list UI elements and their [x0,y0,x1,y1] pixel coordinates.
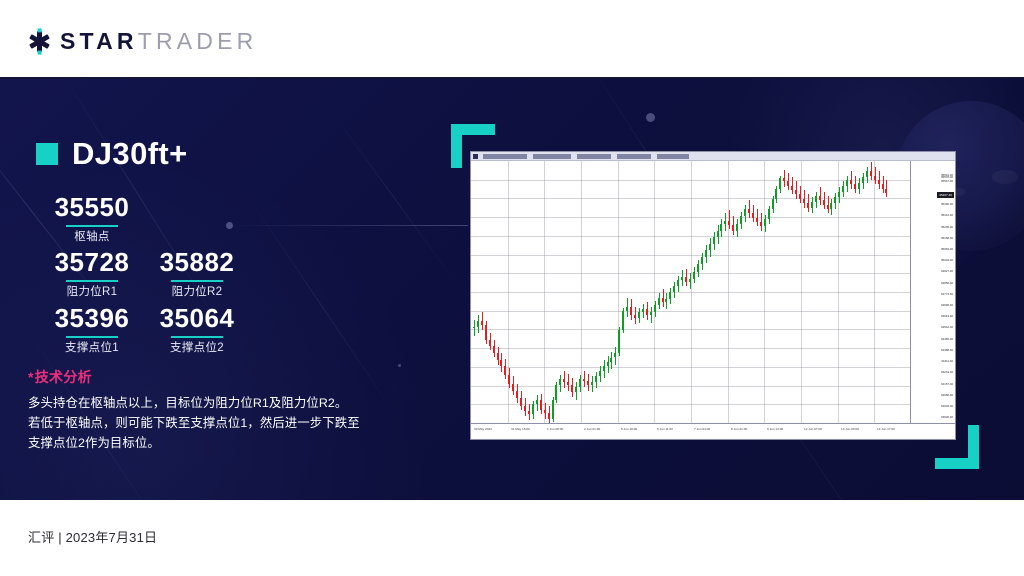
candle-body [493,346,495,353]
candlestick [783,161,785,423]
time-tick-label: 14 Jun 17:00 [877,428,895,431]
candlestick [874,161,876,423]
candle-body [717,231,719,237]
current-price-tag: 35467.40 [937,192,954,198]
candle-body [874,176,876,180]
candlestick [493,161,495,423]
price-tick-label: 35158.40 [941,237,953,240]
candlestick [512,161,514,423]
candlestick [528,161,530,423]
brand-logo: STARTRADER [26,28,257,54]
candlestick [583,161,585,423]
candle-body [748,209,750,213]
candlestick [504,161,506,423]
candle-body [662,298,664,302]
candle-body [599,371,601,377]
candlestick [563,161,565,423]
time-tick-label: 9 Jun 14:00 [767,428,783,431]
candlestick [858,161,860,423]
candle-body [610,358,612,362]
candlestick [626,161,628,423]
chart-ohlc-chip [657,154,689,159]
candle-body [791,186,793,190]
candlestick [638,161,640,423]
stat-divider [66,336,118,338]
time-axis[interactable]: 30 May 202331 May 15:001 Jun 08:002 Jun … [471,423,955,440]
price-tick-label: 35390.40 [941,203,953,206]
chart-ohlc-chip [577,154,611,159]
candle-body [591,382,593,385]
price-tick-label: 34234.40 [941,371,953,374]
candlestick [799,161,801,423]
analysis-heading: *技术分析 [28,367,408,387]
candlestick [665,161,667,423]
time-tick-label: 5 Jun 18:00 [621,428,637,431]
candle-body [532,404,534,414]
candlestick [595,161,597,423]
price-tick-label: 35312.40 [941,214,953,217]
time-tick-label: 13 Jun 00:00 [841,428,859,431]
candle-body [842,186,844,192]
candle-body [728,221,730,225]
candlestick [752,161,754,423]
candlestick [599,161,601,423]
candlestick [575,161,577,423]
candle-body [650,312,652,315]
page-title: DJ30ft+ [72,138,188,169]
stat-support2: 35064 支撑点位2 [127,305,267,355]
candle-body [489,340,491,346]
page-header: STARTRADER [0,0,1024,78]
candle-body [665,299,667,302]
analysis-asterisk: * [28,369,34,385]
candlestick [815,161,817,423]
candle-body [866,171,868,177]
candlestick [713,161,715,423]
candle-body [508,375,510,384]
candlestick [658,161,660,423]
candle-body [854,184,856,188]
candlestick [854,161,856,423]
candlestick [508,161,510,423]
infographic-page: STARTRADER DJ30ft+ 35550 枢轴点 [0,0,1024,576]
stat-support2-label: 支撑点位2 [127,342,267,355]
candlestick [787,161,789,423]
candle-body [752,213,754,217]
candle-body [520,398,522,405]
candlestick [642,161,644,423]
price-tick-label: 35547.40 [941,180,953,183]
candle-body [540,400,542,410]
candle-body [787,181,789,185]
candle-body [603,366,605,370]
candlestick [834,161,836,423]
candle-body [524,406,526,412]
candle-body [595,376,597,382]
time-tick-label: 2 Jun 01:00 [584,428,600,431]
candle-body [579,379,581,386]
price-tick-label: 35004.40 [941,259,953,262]
candlestick [540,161,542,423]
candlestick [587,161,589,423]
price-tick-label: 35235.40 [941,226,953,229]
instrument-title-row: DJ30ft+ [36,138,188,169]
candle-body [504,366,506,375]
candle-body [685,277,687,281]
candlestick [870,161,872,423]
stat-pivot-value: 35550 [22,194,162,221]
price-tick-label: 34619.40 [941,315,953,318]
candlestick [717,161,719,423]
candle-body [536,400,538,404]
candle-body [760,222,762,226]
candlestick [571,161,573,423]
candle-body [697,264,699,271]
analysis-text: 多头持仓在枢轴点以上，目标位为阻力位R1及阻力位R2。 若低于枢轴点，则可能下跌… [28,393,408,453]
candle-body [827,205,829,209]
candlestick [485,161,487,423]
candle-body [630,307,632,316]
candlestick [705,161,707,423]
price-tick-label: 34388.40 [941,349,953,352]
page-footer: 汇评 | 2023年7月31日 [0,500,1024,576]
candle-body [677,280,679,286]
candle-body [768,209,770,219]
candlestick [772,161,774,423]
candlestick [709,161,711,423]
candlestick [744,161,746,423]
candle-body [783,178,785,181]
candle-body [669,292,671,299]
candlestick [552,161,554,423]
candlestick [548,161,550,423]
candlestick [697,161,699,423]
candle-body [587,381,589,385]
candlestick [500,161,502,423]
candlestick [827,161,829,423]
candle-body [555,385,557,400]
chart-main-area[interactable]: 35591.4035578.4035547.4035467.4035390.40… [471,161,955,423]
stat-pivot: 35550 枢轴点 [22,194,162,244]
stat-resistance2: 35882 阻力位R2 [127,249,267,299]
candle-body [764,219,766,226]
candlestick [842,161,844,423]
candlestick [795,161,797,423]
candlestick [591,161,593,423]
candle-body [481,321,483,325]
candle-body [878,180,880,184]
price-tick-label: 34003.40 [941,405,953,408]
candlestick [497,161,499,423]
candle-body [701,257,703,264]
candle-body [642,309,644,312]
brand-name-star: STAR [60,28,138,54]
stat-support2-value: 35064 [127,305,267,332]
candlestick [775,161,777,423]
candlestick [819,161,821,423]
candle-body [807,203,809,207]
bracket-arm-vertical [451,124,462,168]
title-bullet-square-icon [36,143,58,165]
candlestick [646,161,648,423]
candlestick [681,161,683,423]
time-tick-label: 30 May 2023 [474,428,492,431]
candlestick [614,161,616,423]
candlestick [693,161,695,423]
candle-body [583,379,585,380]
candle-body [705,250,707,257]
chart-titlebar [471,152,955,161]
price-tick-label: 34465.40 [941,338,953,341]
stat-divider [171,336,223,338]
candle-body [654,305,656,312]
candlestick [618,161,620,423]
candlestick [520,161,522,423]
candle-body [559,379,561,385]
candle-body [795,190,797,194]
candle-body [803,199,805,203]
candlestick [579,161,581,423]
candlestick [850,161,852,423]
price-tick-label: 34773.40 [941,293,953,296]
candle-body [638,312,640,318]
candle-body [858,183,860,189]
candlestick [728,161,730,423]
candlestick [846,161,848,423]
candle-body [567,382,569,385]
candlestick [830,161,832,423]
candle-body [799,194,801,198]
price-axis[interactable]: 35591.4035578.4035547.4035467.4035390.40… [910,161,955,423]
candlestick [740,161,742,423]
candle-body [724,221,726,224]
candle-body [607,362,609,366]
stat-resistance2-label: 阻力位R2 [127,286,267,299]
candlestick [481,161,483,423]
candle-body [497,353,499,360]
candle-body [575,387,577,393]
candlestick [532,161,534,423]
candle-body [740,216,742,223]
candle-body [736,224,738,231]
candlestick [878,161,880,423]
candle-body [646,309,648,315]
candle-body [838,192,840,198]
candlestick [677,161,679,423]
candle-body [563,379,565,382]
candlestick [885,161,887,423]
candlestick [634,161,636,423]
chart-ohlc-chip [533,154,571,159]
footer-caption: 汇评 | 2023年7月31日 [28,527,157,546]
candle-body [689,279,691,282]
candlestick [662,161,664,423]
time-tick-label: 12 Jun 07:00 [804,428,822,431]
candle-body [846,180,848,186]
candlestick [567,161,569,423]
analysis-heading-text: 技术分析 [35,369,92,385]
candlestick [544,161,546,423]
chart-ohlc-chip [617,154,651,159]
candlestick [524,161,526,423]
candle-body [862,177,864,183]
chart-title-chip [483,154,527,159]
candlestick [724,161,726,423]
time-tick-label: 6 Jun 11:00 [657,428,673,431]
chart-window-icon [473,154,478,159]
candle-body [528,411,530,414]
candle-body [779,178,781,188]
candlestick [823,161,825,423]
light-streak [330,109,460,288]
candle-body [614,353,616,357]
candle-body [500,360,502,366]
candlestick [673,161,675,423]
stat-divider [171,280,223,282]
planet-crater [992,170,1018,184]
candle-body [548,413,550,419]
candlestick [650,161,652,423]
candlestick [607,161,609,423]
price-tick-label: 35081.40 [941,248,953,251]
candle-body [634,315,636,318]
candlestick [748,161,750,423]
candle-body [772,199,774,209]
candlestick [477,161,479,423]
candlestick [760,161,762,423]
candle-body [693,272,695,279]
candlestick [791,161,793,423]
candlestick [838,161,840,423]
candlestick [622,161,624,423]
time-tick-label: 8 Jun 21:00 [731,428,747,431]
candlestick [603,161,605,423]
time-tick-label: 1 Jun 08:00 [547,428,563,431]
candle-body [709,244,711,250]
candle-body [885,189,887,193]
candlestick [555,161,557,423]
stat-divider [66,280,118,282]
candlestick [630,161,632,423]
candle-body [512,384,514,391]
asterisk-star-logo-icon [26,28,53,55]
candle-body [673,286,675,292]
candlestick [669,161,671,423]
candlestick [803,161,805,423]
technical-analysis-block: *技术分析 多头持仓在枢轴点以上，目标位为阻力位R1及阻力位R2。 若低于枢轴点… [28,367,408,453]
candle-body [485,325,487,340]
candlestick [473,161,475,423]
candle-body [834,197,836,203]
candle-body [618,330,620,353]
stat-resistance2-value: 35882 [127,249,267,276]
candlestick [689,161,691,423]
candle-body [658,298,660,305]
time-tick-label: 7 Jun 04:00 [694,428,710,431]
price-tick-label: 34927.40 [941,270,953,273]
candlestick [516,161,518,423]
candlestick [779,161,781,423]
candle-body [626,307,628,311]
price-tick-label: 34311.40 [941,360,953,363]
candlestick [559,161,561,423]
candlestick [882,161,884,423]
candlestick [489,161,491,423]
candlestick [720,161,722,423]
candle-body [744,209,746,216]
candle-body [850,180,852,184]
candlestick [654,161,656,423]
candle-body [815,196,817,202]
candlestick [610,161,612,423]
analysis-line-1: 多头持仓在枢轴点以上，目标位为阻力位R1及阻力位R2。 [28,393,408,413]
candle-body [830,203,832,209]
price-tick-label: 34542.40 [941,326,953,329]
candle-body [544,410,546,413]
candle-body [775,189,777,199]
candlestick [866,161,868,423]
dot-decoration [646,113,655,122]
price-tick-label: 34850.40 [941,282,953,285]
candlestick [701,161,703,423]
chart-plot-area[interactable] [471,161,911,423]
candle-body [720,224,722,231]
candle-body [756,218,758,222]
candle-body [811,202,813,208]
candle-body [823,200,825,204]
candlestick [536,161,538,423]
price-tick-label: 34696.40 [941,304,953,307]
price-tick-label: 34157.40 [941,383,953,386]
stat-pivot-label: 枢轴点 [22,231,162,244]
candle-body [552,400,554,419]
candlestick [685,161,687,423]
bracket-arm-vertical [968,425,979,469]
brand-name: STARTRADER [60,28,257,55]
candlestick [862,161,864,423]
candlestick [764,161,766,423]
price-tick-label: 34080.40 [941,394,953,397]
candle-body [571,385,573,392]
candlestick [756,161,758,423]
stat-divider [66,225,118,227]
candle-body [882,184,884,188]
candlestick [732,161,734,423]
price-chart[interactable]: 35591.4035578.4035547.4035467.4035390.40… [470,151,956,440]
time-tick-label: 31 May 15:00 [511,428,530,431]
candle-body [477,321,479,327]
candlestick [811,161,813,423]
brand-name-trader: TRADER [138,28,258,54]
candle-body [713,237,715,244]
candle-body [819,196,821,200]
candle-body [622,311,624,330]
price-tick-label: 33926.40 [941,416,953,419]
candle-body [870,171,872,175]
candle-body [681,277,683,280]
analysis-line-2: 若低于枢轴点，则可能下跌至支撑点位1，然后进一步下跌至 [28,413,408,433]
candlestick [807,161,809,423]
analysis-line-3: 支撑点位2作为目标位。 [28,433,408,453]
candle-body [473,327,475,328]
main-panel: DJ30ft+ 35550 枢轴点 35728 阻力位R1 35882 阻力位R… [0,79,1024,500]
candlestick [736,161,738,423]
candlestick [768,161,770,423]
candle-body [516,391,518,398]
candle-body [732,225,734,231]
